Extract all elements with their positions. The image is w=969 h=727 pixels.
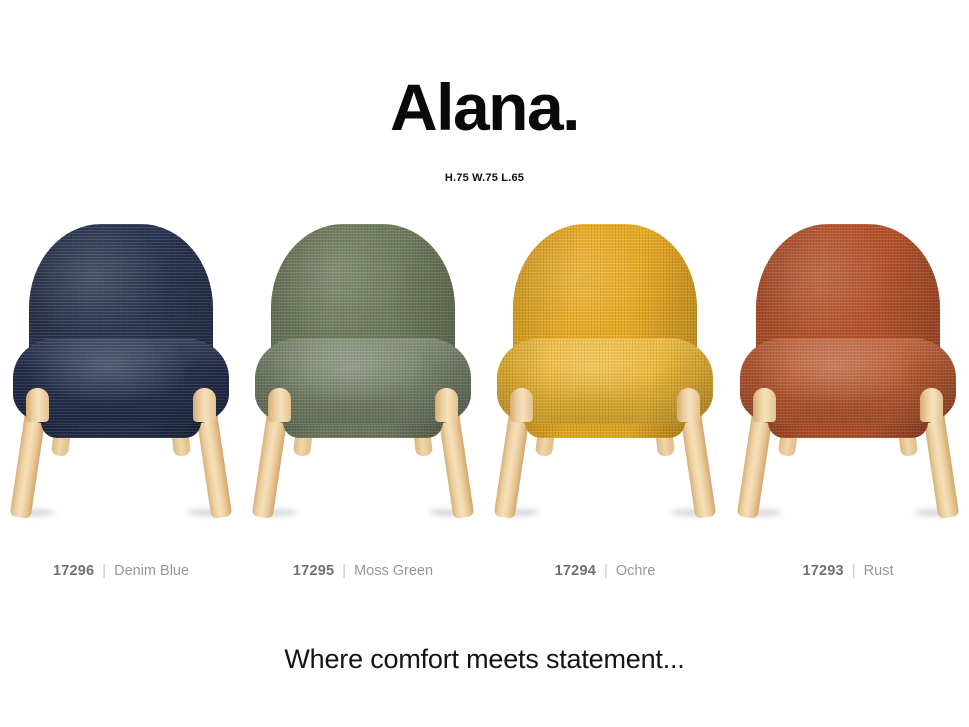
product-image-row (0, 222, 969, 532)
product-sku: 17296 (53, 563, 94, 579)
leg-cap-left (510, 388, 533, 422)
page-title: Alana. (0, 74, 969, 140)
chair-render (7, 222, 235, 532)
product-color-name: Rust (864, 563, 894, 579)
product-sheet: Alana. H.75 W.75 L.65 (0, 0, 969, 727)
product-image-denim-blue[interactable] (0, 222, 242, 532)
leg-cap-right (435, 388, 458, 422)
label-separator: | (852, 563, 856, 579)
dimensions-label: H.75 W.75 L.65 (0, 172, 969, 184)
product-color-name: Ochre (616, 563, 656, 579)
tagline: Where comfort meets statement... (0, 644, 969, 675)
product-sku: 17294 (555, 563, 596, 579)
product-label-row: 17296 | Denim Blue 17295 | Moss Green 17… (0, 563, 969, 585)
product-image-rust[interactable] (727, 222, 969, 532)
leg-cap-left (26, 388, 49, 422)
chair-render (734, 222, 962, 532)
product-label: 17296 | Denim Blue (0, 563, 242, 579)
leg-cap-right (193, 388, 216, 422)
product-image-moss-green[interactable] (242, 222, 484, 532)
label-separator: | (342, 563, 346, 579)
chair-render (491, 222, 719, 532)
label-separator: | (604, 563, 608, 579)
chair-render (249, 222, 477, 532)
product-sku: 17293 (803, 563, 844, 579)
product-image-ochre[interactable] (484, 222, 726, 532)
product-label: 17295 | Moss Green (242, 563, 484, 579)
label-separator: | (102, 563, 106, 579)
product-sku: 17295 (293, 563, 334, 579)
product-color-name: Moss Green (354, 563, 433, 579)
leg-cap-left (753, 388, 776, 422)
product-label: 17294 | Ochre (484, 563, 726, 579)
leg-cap-right (677, 388, 700, 422)
product-color-name: Denim Blue (114, 563, 189, 579)
product-label: 17293 | Rust (727, 563, 969, 579)
leg-cap-right (920, 388, 943, 422)
leg-cap-left (268, 388, 291, 422)
